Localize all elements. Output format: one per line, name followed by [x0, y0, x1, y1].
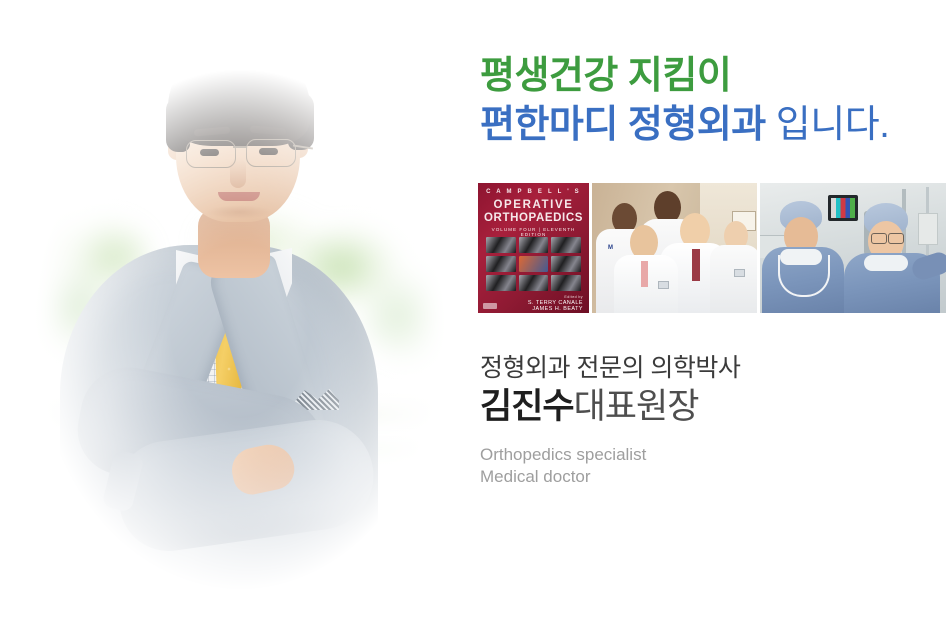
xray-thumb	[486, 256, 516, 272]
eyeglasses-bridge	[233, 146, 247, 148]
clinic-doctor-intro-banner: 평생건강 지킴이 편한마디 정형외과 입니다. C A M P B E L L …	[0, 0, 946, 640]
photo-strip: C A M P B E L L ' S OPERATIVE ORTHOPAEDI…	[478, 183, 946, 313]
photo-book-cover: C A M P B E L L ' S OPERATIVE ORTHOPAEDI…	[478, 183, 589, 313]
book-brand: C A M P B E L L ' S	[478, 189, 589, 195]
eyeglasses-lens-left	[871, 233, 887, 244]
monitor-color-bars	[831, 198, 855, 218]
xray-thumb	[519, 237, 549, 253]
xray-thumb	[551, 237, 581, 253]
slogan-suffix: 입니다.	[766, 104, 890, 146]
book-author-2: JAMES H. BEATY	[532, 306, 583, 312]
book-edited-by-label: Edited by	[564, 295, 583, 299]
necktie	[641, 261, 648, 287]
xray-thumb	[519, 256, 549, 272]
chin-shadow	[206, 205, 272, 219]
shirt-logo-text: M	[608, 245, 614, 251]
photo-doctors-group: M	[592, 183, 757, 313]
slogan-line-2: 편한마디 정형외과 입니다.	[480, 100, 889, 150]
eyeglasses-lens-left	[186, 140, 236, 168]
doctor-english-line-2: Medical doctor	[480, 466, 740, 488]
xray-thumb	[519, 275, 549, 291]
xray-thumb	[486, 237, 516, 253]
doctor-english-block: Orthopedics specialist Medical doctor	[480, 444, 740, 488]
wall-unit	[918, 213, 938, 245]
slogan-headline: 평생건강 지킴이 편한마디 정형외과 입니다.	[480, 52, 889, 150]
xray-thumb	[551, 275, 581, 291]
eyeglasses-lens-right	[246, 139, 296, 167]
book-xray-thumbnail-grid	[486, 237, 581, 291]
xray-thumb	[551, 256, 581, 272]
book-title-line-2: ORTHOPAEDICS	[478, 212, 589, 224]
xray-thumb	[486, 275, 516, 291]
doctor-figure	[0, 0, 470, 640]
doctor-name-line: 김진수대표원장	[480, 384, 740, 430]
nose	[230, 158, 246, 188]
slogan-clinic-name: 편한마디 정형외과	[480, 104, 766, 146]
doctor-english-line-1: Orthopedics specialist	[480, 444, 740, 466]
person-torso-white-coat	[710, 245, 757, 313]
doctor-name-block: 정형외과 전문의 의학박사 김진수대표원장 Orthopedics specia…	[480, 352, 740, 488]
necktie	[692, 249, 700, 281]
surgical-mask	[864, 255, 908, 271]
hair	[168, 42, 310, 146]
book-title-line-1: OPERATIVE	[478, 199, 589, 211]
doctor-title: 대표원장	[574, 387, 699, 426]
mask-ties	[778, 255, 830, 297]
mouth	[218, 192, 260, 201]
slogan-line-1: 평생건강 지킴이	[480, 52, 889, 100]
eyeglasses-lens-right	[888, 233, 904, 244]
content-column: 평생건강 지킴이 편한마디 정형외과 입니다. C A M P B E L L …	[470, 0, 946, 640]
doctor-portrait-photo	[0, 0, 470, 640]
id-badge	[734, 269, 745, 277]
doctor-name: 김진수	[480, 387, 574, 426]
id-badge	[658, 281, 669, 289]
doctor-role: 정형외과 전문의 의학박사	[480, 352, 740, 384]
book-volume-edition: VOLUME FOUR | ELEVENTH EDITION	[478, 227, 589, 237]
publisher-logo	[483, 303, 497, 309]
photo-surgeons-operating-room	[760, 183, 946, 313]
